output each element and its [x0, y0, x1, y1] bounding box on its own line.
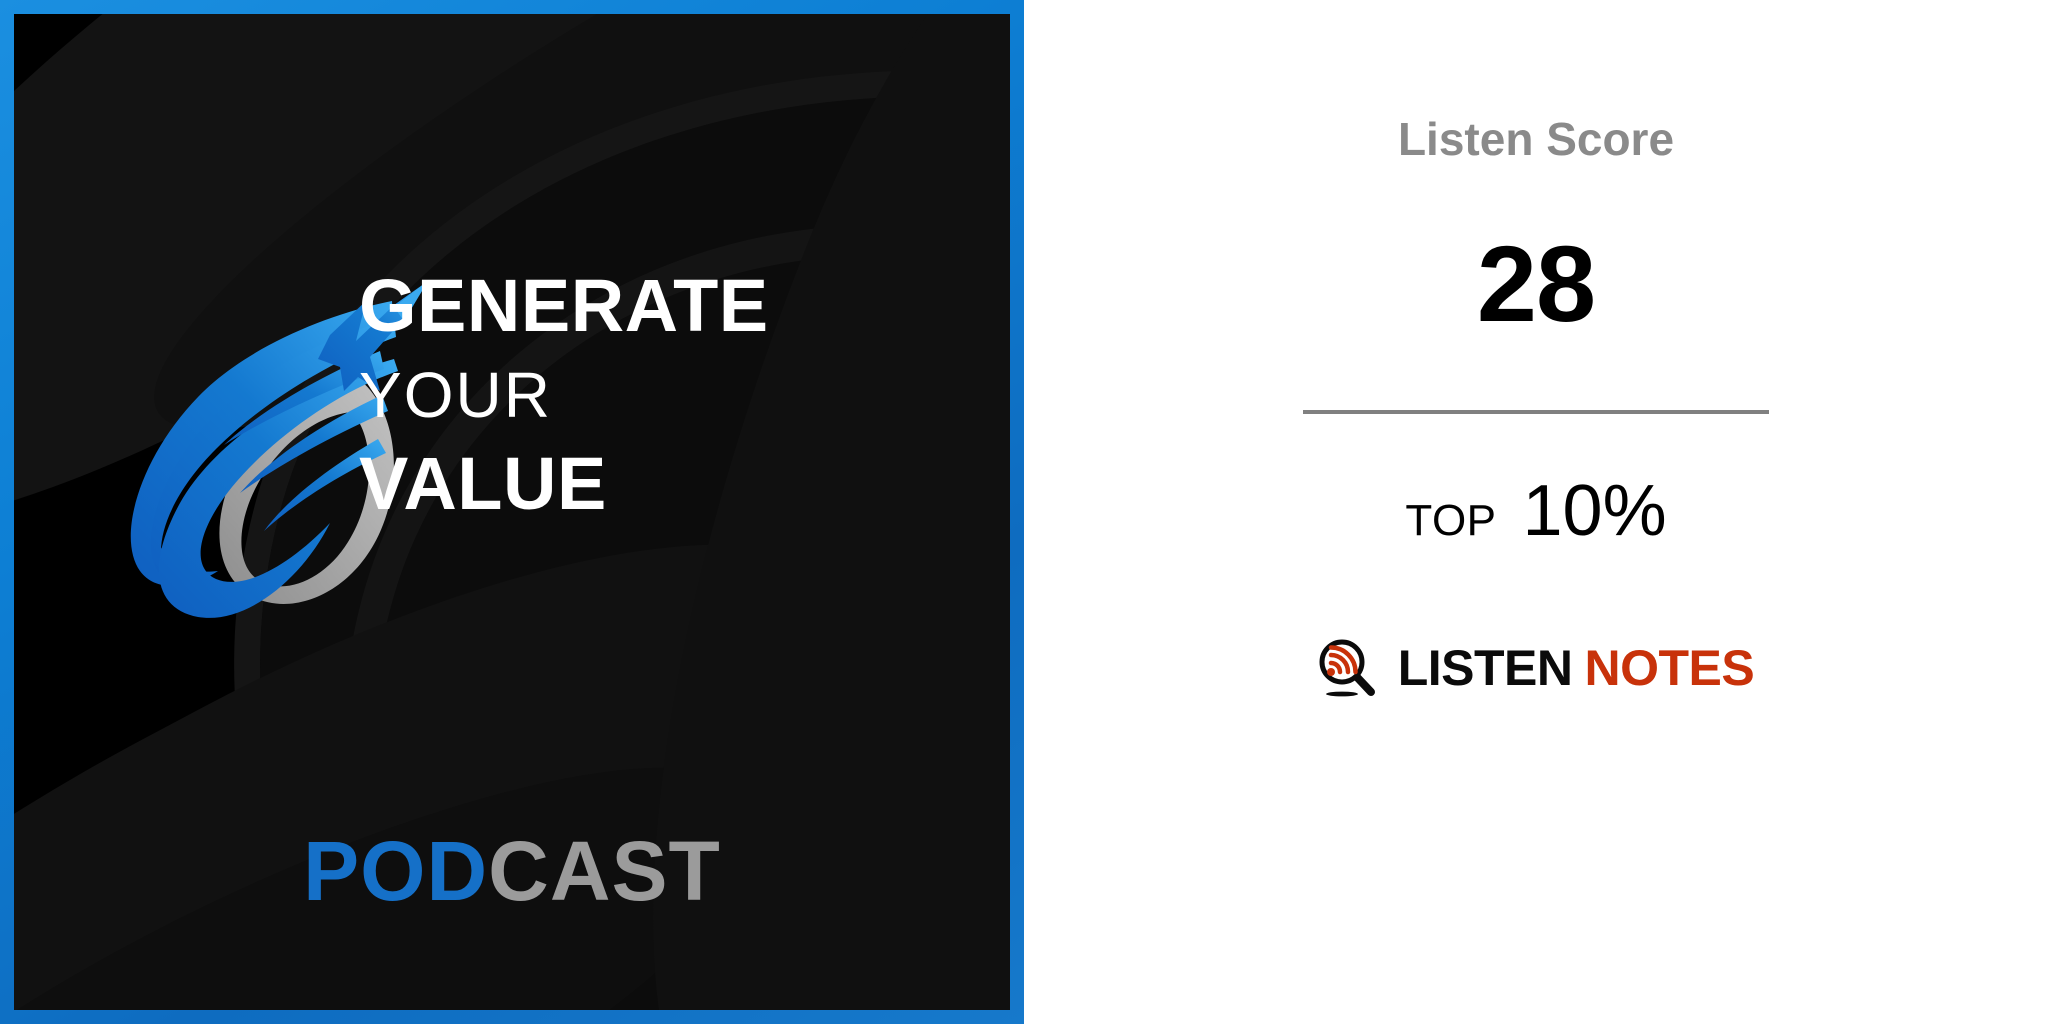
rank-prefix-label: TOP — [1405, 496, 1496, 546]
artwork-title-line-2: YOUR — [359, 363, 989, 427]
artwork-canvas: GENERATE YOUR VALUE PODCAST — [14, 14, 1010, 1010]
podcast-artwork[interactable]: GENERATE YOUR VALUE PODCAST — [0, 0, 1024, 1024]
listen-score-label: Listen Score — [1398, 116, 1674, 162]
artwork-footer-word: PODCAST — [14, 829, 1010, 913]
listen-score-value: 28 — [1477, 230, 1595, 338]
listen-score-card: GENERATE YOUR VALUE PODCAST Listen Score… — [0, 0, 2048, 1024]
artwork-title-line-1: GENERATE — [359, 269, 989, 343]
artwork-title-block: GENERATE YOUR VALUE — [359, 269, 989, 521]
artwork-title-line-3: VALUE — [359, 447, 989, 521]
artwork-footer-word-part-2: CAST — [488, 824, 721, 918]
brand-word-accent: NOTES — [1585, 640, 1755, 696]
listen-score-panel: Listen Score 28 TOP 10% — [1024, 0, 2048, 1024]
listen-notes-magnifier-rss-icon — [1318, 638, 1378, 698]
artwork-footer-word-part-1: POD — [303, 824, 488, 918]
brand-word-primary: LISTEN — [1398, 640, 1573, 696]
artwork-border: GENERATE YOUR VALUE PODCAST — [0, 0, 1024, 1024]
rank-percentile-value: 10% — [1523, 470, 1667, 552]
listen-score-rank: TOP 10% — [1405, 470, 1666, 552]
divider — [1303, 410, 1769, 414]
listen-notes-logo[interactable]: LISTENNOTES — [1318, 638, 1755, 698]
